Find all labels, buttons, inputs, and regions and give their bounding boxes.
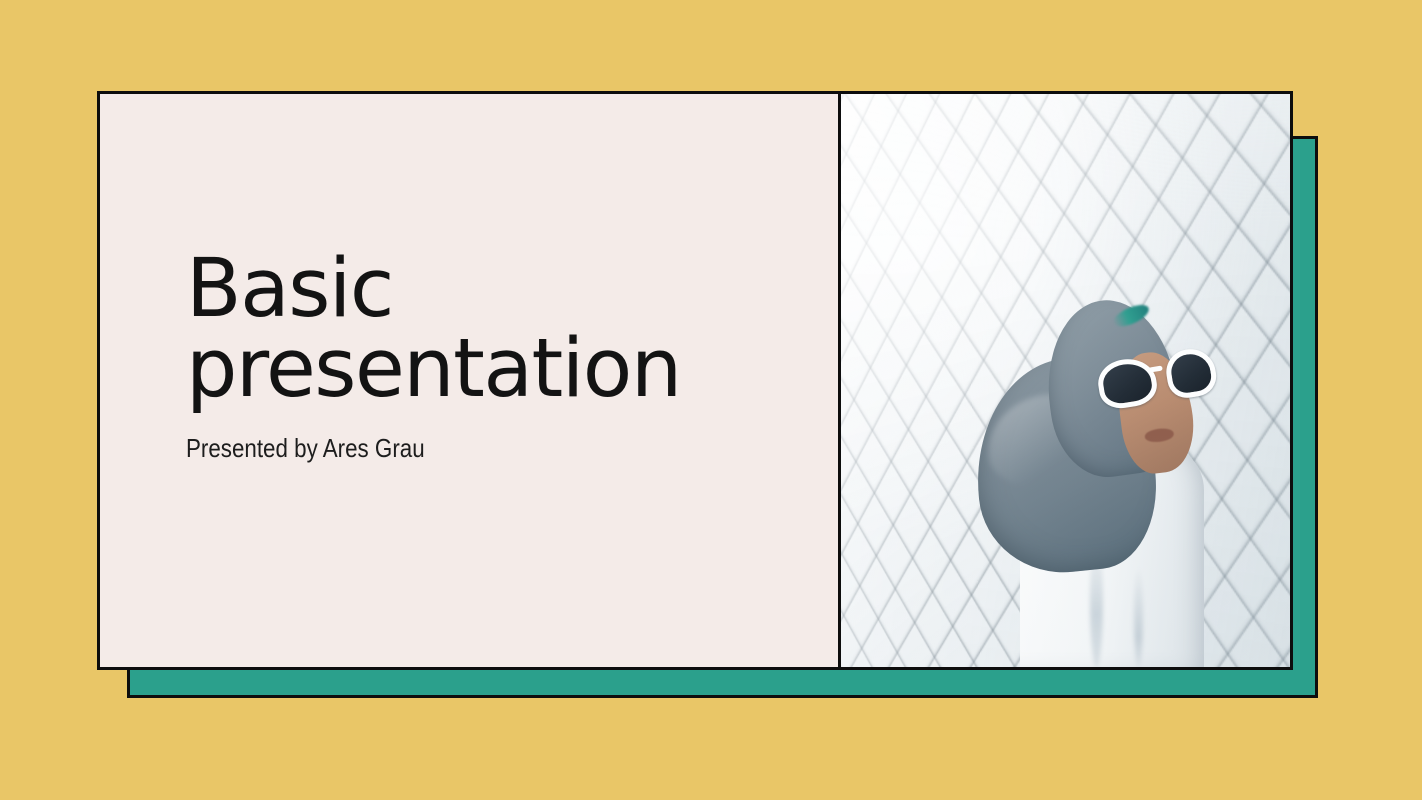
slide-subtitle: Presented by Ares Grau [186,433,719,464]
photo-subject [976,300,1254,667]
sunglasses-lens-left [1095,355,1160,411]
garment-fold [1134,567,1143,667]
title-pane: Basic presentation Presented by Ares Gra… [100,94,841,667]
sunglasses-bridge [1149,366,1163,373]
page-title: Basic presentation [186,249,806,409]
slide-photo [841,94,1290,667]
slide-card: Basic presentation Presented by Ares Gra… [97,91,1293,670]
slide-stage: Basic presentation Presented by Ares Gra… [0,0,1422,800]
subject-lips [1144,427,1174,443]
sunglasses-lens-right [1163,346,1219,401]
hijab-accent-band [1111,300,1153,330]
title-block: Basic presentation Presented by Ares Gra… [186,249,806,464]
